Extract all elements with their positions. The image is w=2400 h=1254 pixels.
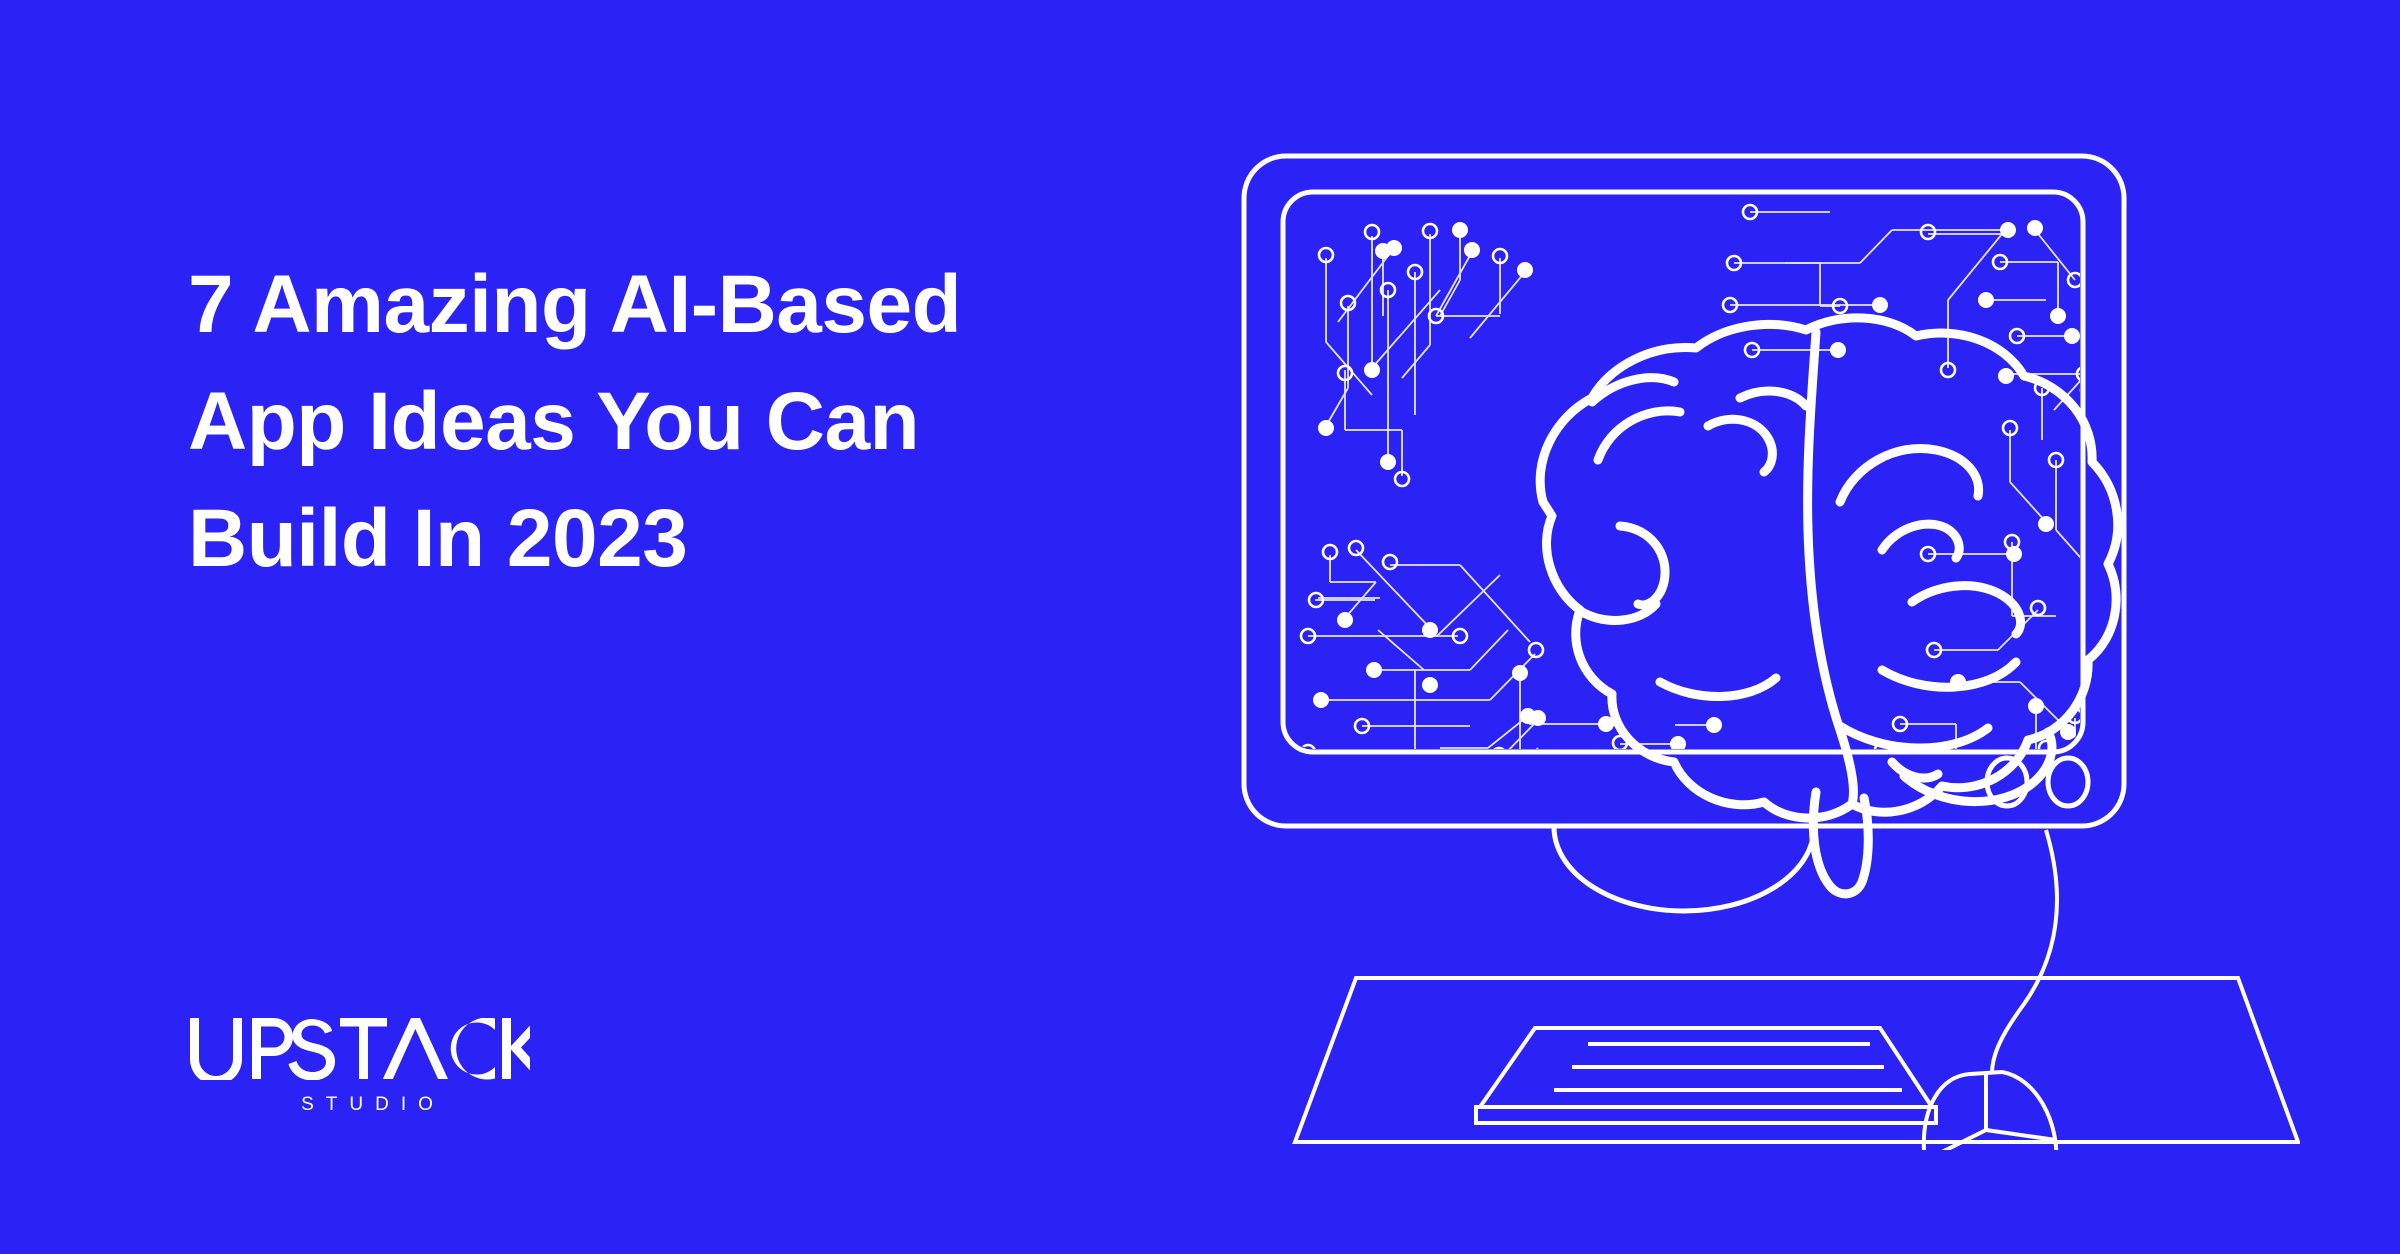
headline-line-1: 7 Amazing AI-Based	[188, 246, 1188, 363]
monitor-stand	[1554, 827, 1814, 911]
circuit-node-filled	[1313, 220, 2116, 840]
page-title: 7 Amazing AI-Based App Ideas You Can Bui…	[188, 246, 1188, 597]
mouse-cable	[1992, 830, 2057, 1074]
ai-brain-computer-illustration	[1140, 130, 2300, 1150]
brand-logo: STUDIO	[190, 1018, 550, 1116]
mouse[interactable]	[1924, 1072, 2057, 1150]
indicator-button-right[interactable]	[2048, 758, 2088, 806]
headline-line-2: App Ideas You Can	[188, 363, 1188, 480]
logo-tagline-studio: STUDIO	[190, 1094, 550, 1116]
keyboard-key-rows	[1554, 1044, 1902, 1090]
mouse-right-button	[1986, 1130, 2056, 1140]
logo-wordmark-upstack	[190, 1018, 530, 1080]
circuit-node-hollow	[1301, 205, 2095, 839]
banner-root: 7 Amazing AI-Based App Ideas You Can Bui…	[0, 0, 2400, 1254]
headline-line-3: Build In 2023	[188, 480, 1188, 597]
desk-surface	[1295, 978, 2298, 1142]
keyboard[interactable]	[1476, 1028, 1936, 1123]
